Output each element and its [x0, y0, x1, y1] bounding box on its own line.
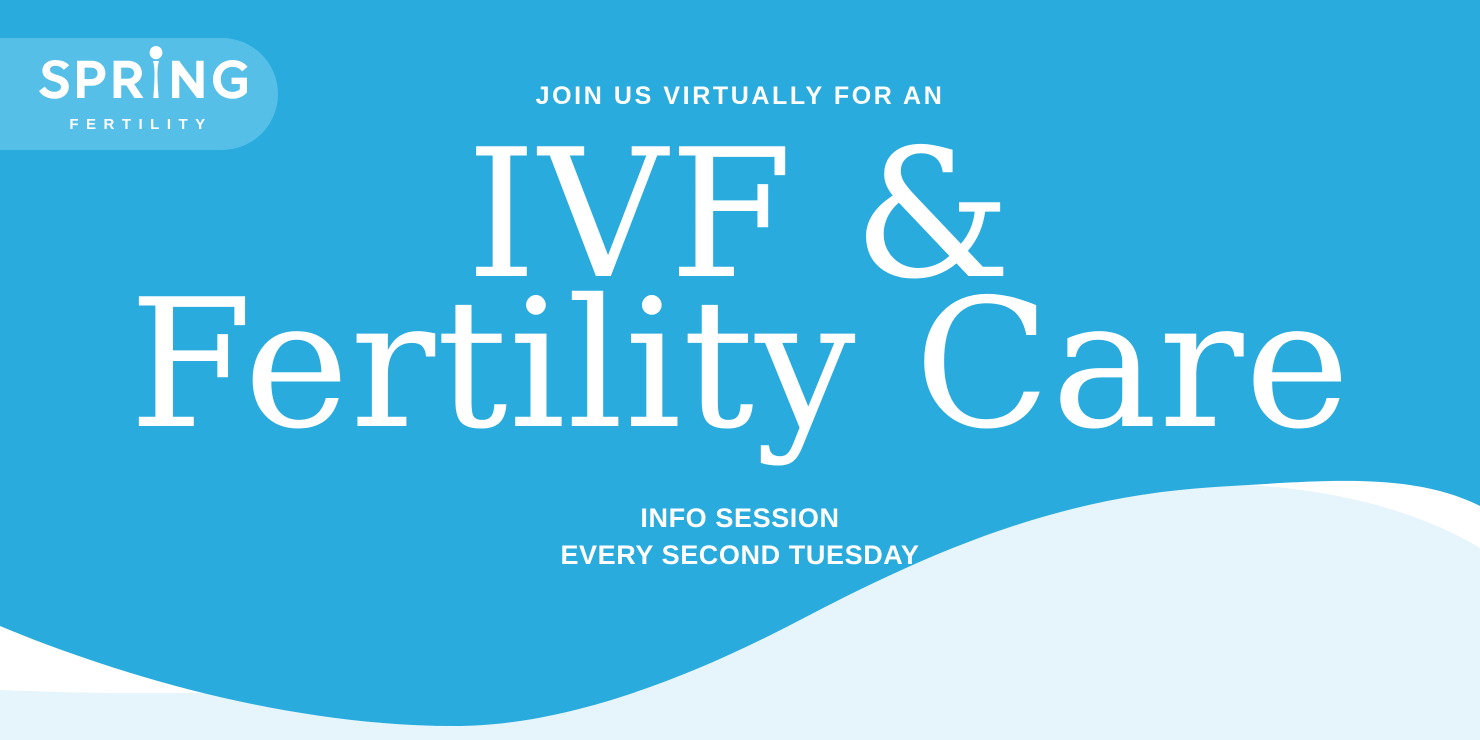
session-details: INFO SESSION EVERY SECOND TUESDAY — [0, 500, 1480, 574]
logo-subtitle: FERTILITY — [36, 117, 246, 132]
promo-banner: FERTILITY JOIN US VIRTUALLY FOR AN IVF &… — [0, 0, 1480, 740]
spring-wordmark — [34, 46, 250, 108]
schedule-label: EVERY SECOND TUESDAY — [0, 537, 1480, 574]
spring-sperm-i-icon — [150, 46, 163, 98]
headline-line-2: Fertility Care — [0, 276, 1480, 454]
spring-wordmark-svg — [34, 46, 250, 108]
spring-letters — [39, 46, 248, 99]
info-session-label: INFO SESSION — [0, 500, 1480, 537]
